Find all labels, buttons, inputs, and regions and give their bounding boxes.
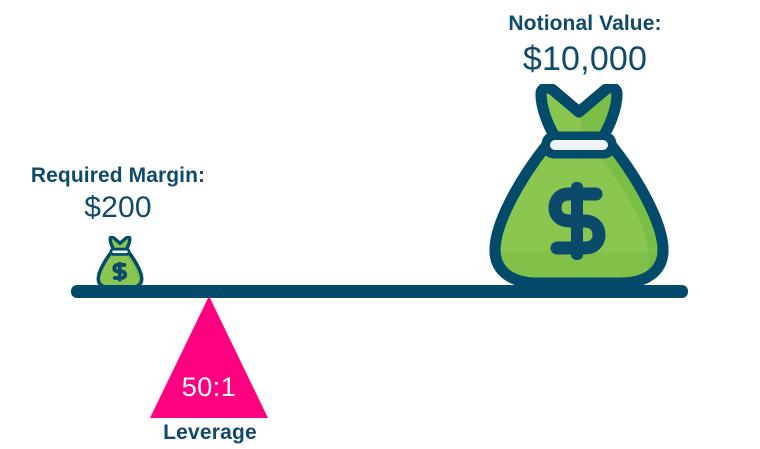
money-bag-small-icon bbox=[96, 236, 144, 289]
infographic-canvas: Notional Value: $10,000 Required Margin:… bbox=[0, 0, 760, 449]
leverage-caption: Leverage bbox=[140, 421, 280, 445]
notional-value-amount: $10,000 bbox=[420, 40, 750, 78]
money-bag-large-icon bbox=[489, 84, 669, 289]
required-margin-amount: $200 bbox=[0, 191, 236, 225]
required-margin-label-block: Required Margin: $200 bbox=[0, 164, 236, 224]
leverage-fulcrum-triangle-icon: 50:1 bbox=[148, 294, 270, 420]
leverage-ratio-value: 50:1 bbox=[148, 372, 270, 403]
notional-value-label-block: Notional Value: $10,000 bbox=[420, 12, 750, 78]
notional-value-caption: Notional Value: bbox=[420, 12, 750, 36]
required-margin-caption: Required Margin: bbox=[0, 164, 236, 188]
